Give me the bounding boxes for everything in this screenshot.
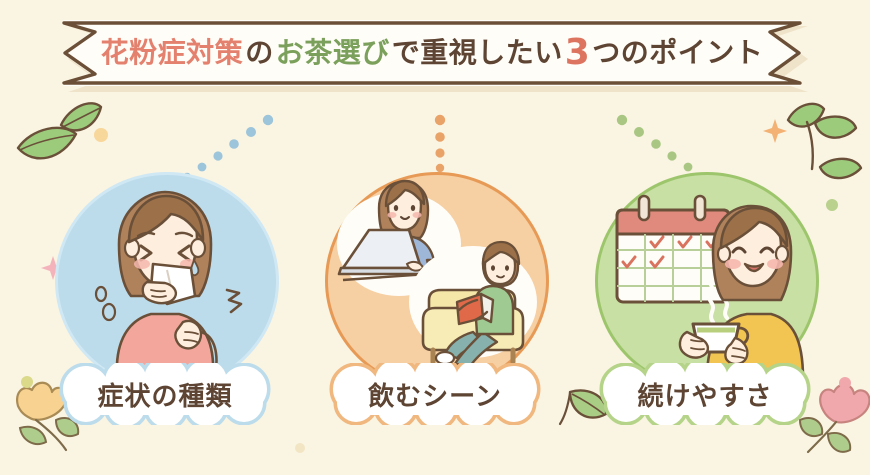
panel-symptom-types[interactable]: 症状の種類 (40, 168, 290, 458)
panel-drinking-scene[interactable]: 飲むシーン (310, 168, 560, 458)
dot-orange-top-left (94, 128, 108, 142)
title-segment-5: つのポイント (591, 39, 764, 67)
title-segment-4: 3 (564, 35, 592, 71)
title-segment-3: で重視したい (391, 39, 564, 67)
dot-yellow-bottom-left (21, 376, 33, 388)
banner-title: 花粉症対策 の お茶選び で重視したい 3 つのポイント (62, 20, 802, 86)
panel-label-symptom-types: 症状の種類 (46, 363, 284, 425)
title-segment-0: 花粉症対策 (100, 39, 245, 67)
title-banner: 花粉症対策 の お茶選び で重視したい 3 つのポイント (62, 20, 808, 92)
panel-label-text-symptom-types: 症状の種類 (46, 363, 284, 425)
panel-label-easy-to-continue: 続けやすさ (586, 363, 824, 425)
title-segment-2: お茶選び (275, 39, 391, 67)
illustration-drinking-scenes (325, 172, 543, 384)
panel-label-text-drinking-scene: 飲むシーン (316, 363, 554, 425)
dot-cream-bottom (295, 443, 305, 453)
leaf-pair-top-left (18, 103, 101, 158)
tea-sprig-top-right (788, 104, 861, 178)
infographic-canvas: 花粉症対策 の お茶選び で重視したい 3 つのポイント (0, 0, 870, 475)
title-segment-1: の (244, 39, 275, 67)
panel-label-drinking-scene: 飲むシーン (316, 363, 554, 425)
illustration-woman-sneezing (55, 172, 273, 384)
illustration-calendar-and-tea (595, 172, 813, 384)
panel-label-text-easy-to-continue: 続けやすさ (586, 363, 824, 425)
dot-pink-bottom-right (839, 377, 851, 389)
panel-easy-to-continue[interactable]: 続けやすさ (580, 168, 830, 458)
